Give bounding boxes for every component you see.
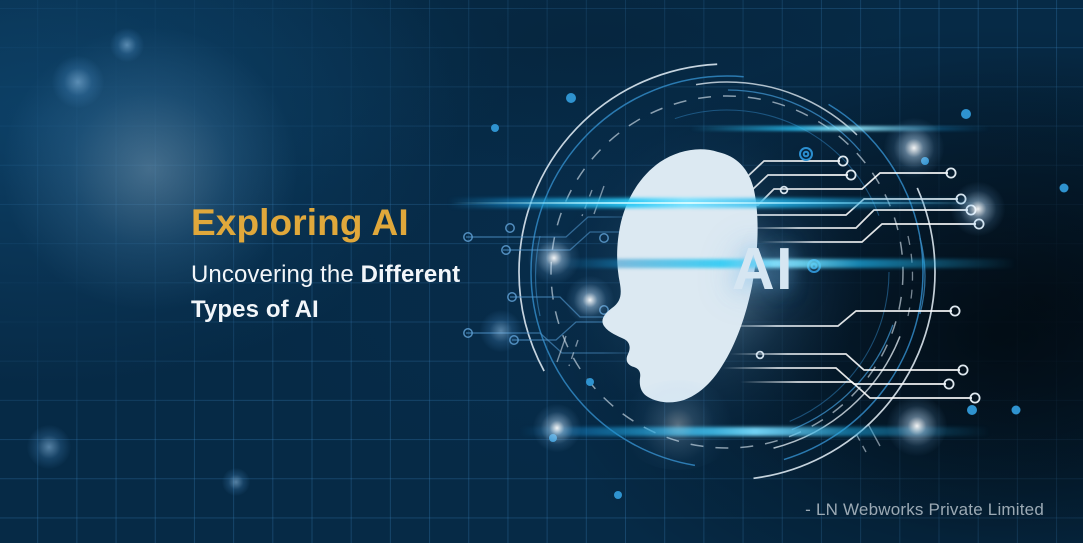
subtitle-bold-2: Types of AI (191, 293, 551, 327)
subtitle-bold-1: Different (361, 261, 461, 288)
ai-wordmark: AI (732, 240, 794, 299)
subtitle-light: Uncovering the (191, 261, 361, 288)
headline-block: Exploring AI Uncovering the Different Ty… (191, 204, 551, 327)
human-head-profile-icon (562, 122, 862, 442)
page-title: Exploring AI (191, 204, 551, 242)
credit-line: - LN Webworks Private Limited (805, 500, 1044, 520)
ai-banner: AI Exploring AI Uncovering the Different… (0, 0, 1083, 543)
page-subtitle: Uncovering the Different Types of AI (191, 258, 551, 326)
